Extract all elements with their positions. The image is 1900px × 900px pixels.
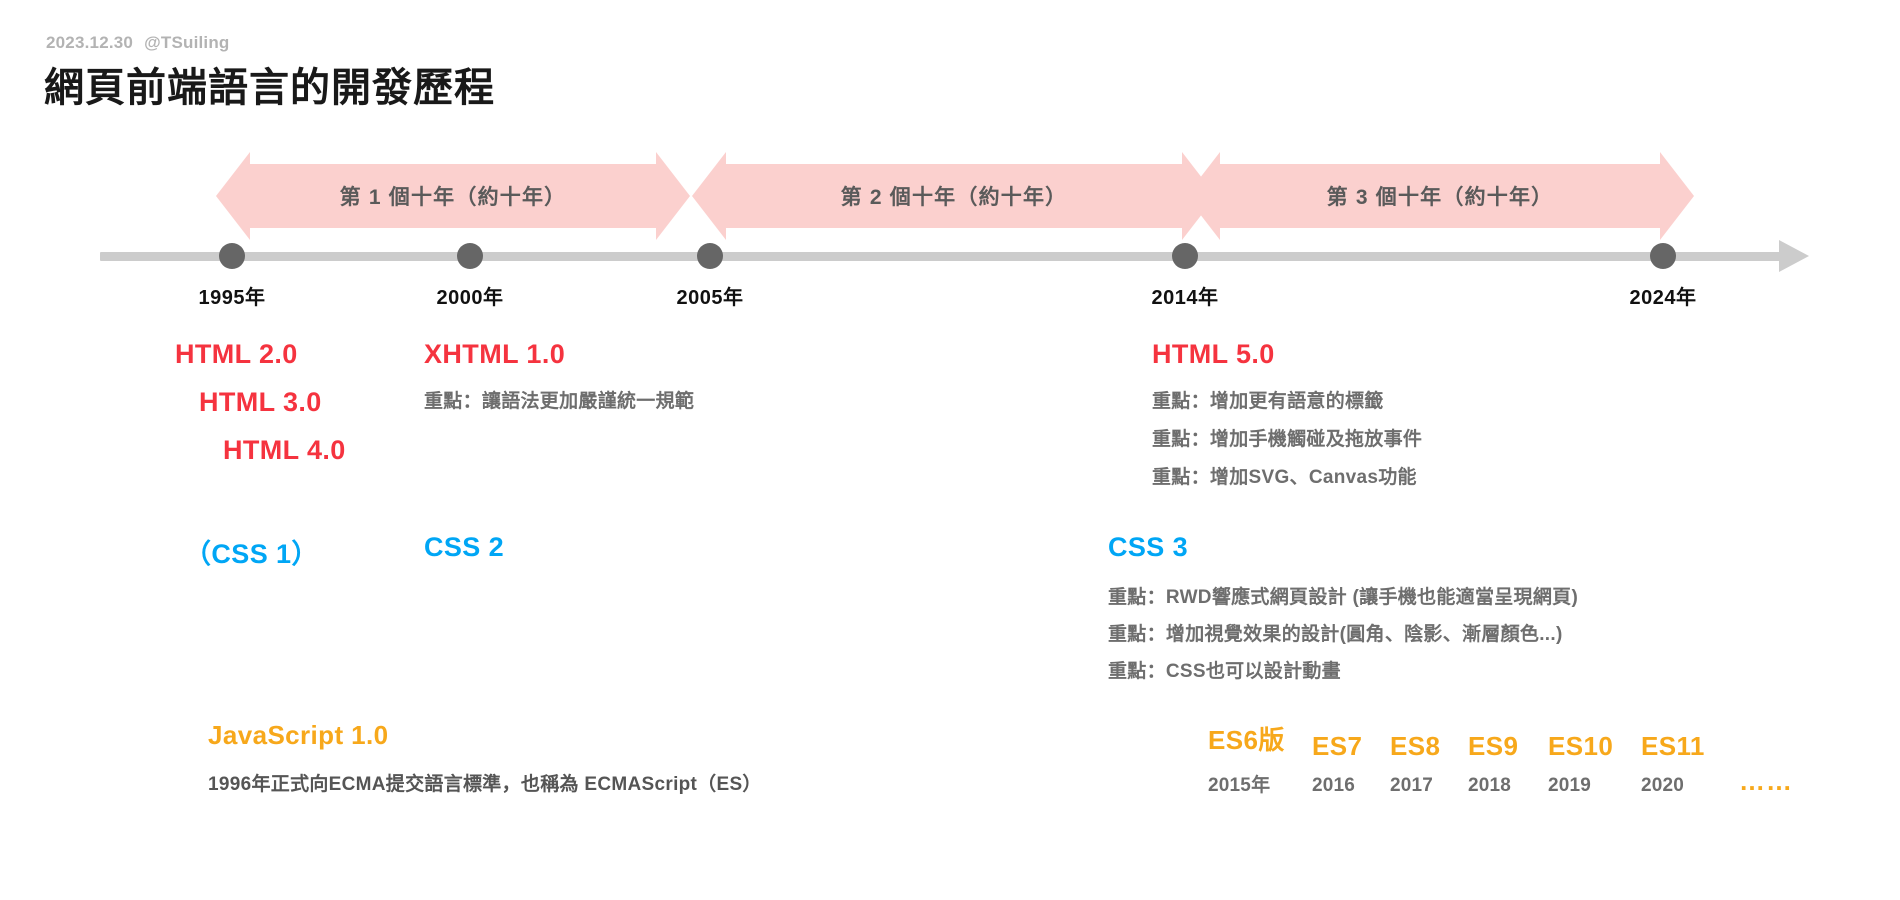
css-3-detail: 重點：RWD響應式網頁設計 (讓手機也能適當呈現網頁): [1108, 578, 1578, 617]
arrow-head-left-icon: [1186, 152, 1220, 240]
css-3-label: CSS 3: [1108, 532, 1188, 563]
es-item: ES9 2018: [1468, 731, 1548, 797]
byline-handle: @TSuiling: [144, 33, 229, 52]
tick-label-2000: 2000年: [437, 281, 504, 310]
byline: 2023.12.30@TSuiling: [46, 33, 230, 53]
timeline-diagram: 2023.12.30@TSuiling 網頁前端語言的開發歷程 第 1 個十年（…: [0, 0, 1900, 900]
timeline-dot: [1172, 243, 1198, 269]
es-name: ES7: [1312, 731, 1390, 762]
byline-date: 2023.12.30: [46, 33, 133, 52]
decade-arrow-1: 第 1 個十年（約十年）: [250, 164, 656, 228]
html-4-label: HTML 4.0: [223, 435, 346, 466]
es-name: ES9: [1468, 731, 1548, 762]
es-year: 2018: [1468, 775, 1548, 797]
timeline-axis-arrow-icon: [1779, 240, 1809, 272]
es-item: ES11 2020: [1641, 731, 1739, 797]
css-2-label: CSS 2: [424, 532, 504, 563]
javascript-1-detail: 1996年正式向ECMA提交語言標準，也稱為 ECMAScript（ES）: [208, 769, 762, 796]
css-3-detail: 重點：CSS也可以設計動畫: [1108, 652, 1341, 691]
arrow-head-right-icon: [1660, 152, 1694, 240]
es-year: 2017: [1390, 775, 1468, 797]
decade-label: 第 2 個十年（約十年）: [841, 181, 1068, 211]
html-5-detail: 重點：增加手機觸碰及拖放事件: [1152, 420, 1422, 459]
decade-arrow-3: 第 3 個十年（約十年）: [1220, 164, 1660, 228]
arrow-head-left-icon: [216, 152, 250, 240]
es-item: ES7 2016: [1312, 731, 1390, 797]
tick-label-2024: 2024年: [1630, 281, 1697, 310]
es-year: 2020: [1641, 775, 1739, 797]
es-name: ES8: [1390, 731, 1468, 762]
xhtml-1-label: XHTML 1.0: [424, 339, 565, 370]
es-item: ES8 2017: [1390, 731, 1468, 797]
timeline-dot: [219, 243, 245, 269]
html-5-detail: 重點：增加更有語意的標籤: [1152, 382, 1384, 421]
tick-label-2014: 2014年: [1152, 281, 1219, 310]
es-name: ES6版: [1208, 720, 1312, 757]
arrow-head-left-icon: [692, 152, 726, 240]
decade-arrow-2: 第 2 個十年（約十年）: [726, 164, 1182, 228]
html-3-label: HTML 3.0: [199, 387, 322, 418]
es-year: 2015年: [1208, 770, 1312, 797]
page-title: 網頁前端語言的開發歷程: [44, 55, 495, 113]
timeline-axis: [100, 252, 1780, 261]
css-1-label: （CSS 1）: [184, 532, 319, 571]
tick-label-2005: 2005年: [677, 281, 744, 310]
css-3-detail: 重點：增加視覺效果的設計(圓角、陰影、漸層顏色...): [1108, 615, 1563, 654]
decade-band: 第 1 個十年（約十年） 第 2 個十年（約十年） 第 3 個十年（約十年）: [0, 164, 1900, 228]
es-year: 2019: [1548, 775, 1641, 797]
es-ellipsis: ……: [1739, 766, 1793, 797]
timeline-dot: [697, 243, 723, 269]
decade-label: 第 1 個十年（約十年）: [340, 181, 567, 211]
es-name: ES10: [1548, 731, 1641, 762]
es-version-row: ES6版 2015年 ES7 2016 ES8 2017 ES9 2018 ES…: [1208, 720, 1793, 797]
html-5-label: HTML 5.0: [1152, 339, 1275, 370]
arrow-head-right-icon: [656, 152, 690, 240]
xhtml-1-detail: 重點：讓語法更加嚴謹統一規範: [424, 382, 694, 421]
decade-label: 第 3 個十年（約十年）: [1327, 181, 1554, 211]
html-2-label: HTML 2.0: [175, 339, 298, 370]
es-item: ES10 2019: [1548, 731, 1641, 797]
timeline-dot: [1650, 243, 1676, 269]
tick-label-1995: 1995年: [199, 281, 266, 310]
javascript-1-label: JavaScript 1.0: [208, 720, 389, 751]
es-item: ES6版 2015年: [1208, 720, 1312, 797]
es-ellipsis-item: ……: [1739, 766, 1793, 797]
timeline-dot: [457, 243, 483, 269]
es-name: ES11: [1641, 731, 1739, 762]
es-year: 2016: [1312, 775, 1390, 797]
html-5-detail: 重點：增加SVG、Canvas功能: [1152, 458, 1417, 497]
